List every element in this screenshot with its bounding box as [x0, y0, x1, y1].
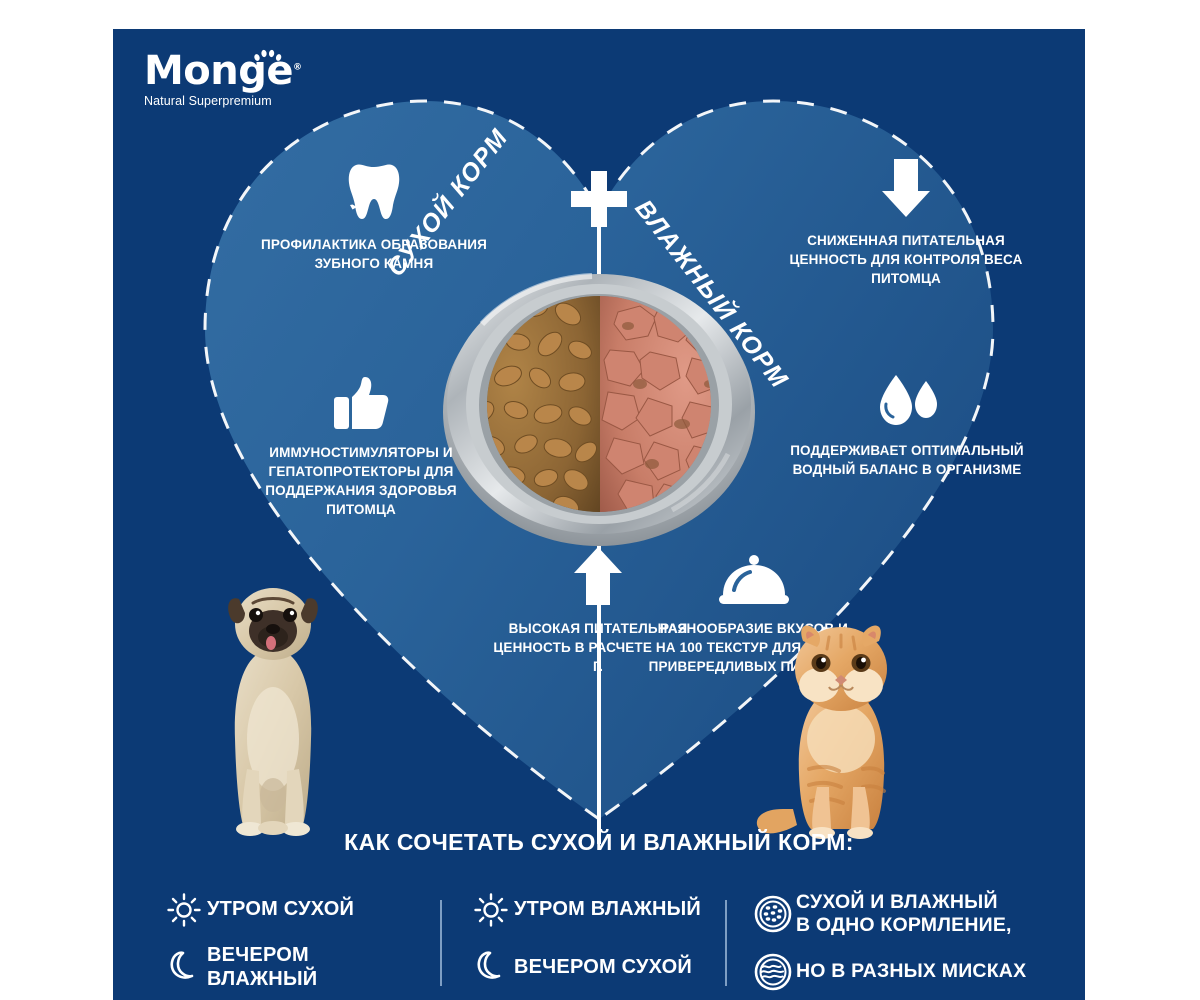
cloche-icon	[641, 543, 867, 607]
feature-text: СНИЖЕННАЯ ПИТАТЕЛЬНАЯ ЦЕННОСТЬ ДЛЯ КОНТР…	[785, 231, 1027, 288]
combo-text: УТРОМ ВЛАЖНЫЙ	[514, 898, 701, 922]
feeding-combinations: УТРОМ СУХОЙ ВЕЧЕРОМ ВЛАЖНЫЙ	[113, 886, 1085, 1000]
combo-text: ВЕЧЕРОМ ВЛАЖНЫЙ	[207, 944, 423, 991]
brand-tagline: Natural Superpremium	[144, 94, 364, 108]
tooth-icon	[259, 159, 489, 223]
combo-row: НО В РАЗНЫХ МИСКАХ	[750, 944, 1070, 1000]
moon-icon	[161, 951, 207, 985]
wet-bowl-icon	[750, 953, 796, 991]
feature-text: ПРОФИЛАКТИКА ОБРАЗОВАНИЯ ЗУБНОГО КАМНЯ	[259, 235, 489, 273]
bottom-section-title: КАК СОЧЕТАТЬ СУХОЙ И ВЛАЖНЫЙ КОРМ:	[113, 829, 1085, 856]
combo-row: ВЕЧЕРОМ ВЛАЖНЫЙ	[161, 944, 423, 992]
feature-text: ИММУНОСТИМУЛЯТОРЫ И ГЕПАТОПРОТЕКТОРЫ ДЛЯ…	[231, 443, 491, 520]
thumbs-up-icon	[231, 367, 491, 431]
feature-immune-support: ИММУНОСТИМУЛЯТОРЫ И ГЕПАТОПРОТЕКТОРЫ ДЛЯ…	[231, 367, 491, 520]
ginger-persian-cat-photo	[753, 619, 928, 844]
brand-logo: Monge® Natural Superpremium	[144, 51, 364, 108]
pug-dog-photo	[203, 579, 343, 844]
feature-tartar-prevention: ПРОФИЛАКТИКА ОБРАЗОВАНИЯ ЗУБНОГО КАМНЯ	[259, 159, 489, 273]
combo-separator	[440, 900, 442, 986]
combo-morning-dry-evening-wet: УТРОМ СУХОЙ ВЕЧЕРОМ ВЛАЖНЫЙ	[161, 886, 423, 1000]
feature-water-balance: ПОДДЕРЖИВАЕТ ОПТИМАЛЬНЫЙ ВОДНЫЙ БАЛАНС В…	[789, 365, 1025, 479]
combo-text: УТРОМ СУХОЙ	[207, 898, 354, 922]
combo-morning-wet-evening-dry: УТРОМ ВЛАЖНЫЙ ВЕЧЕРОМ СУХОЙ	[468, 886, 730, 1000]
plus-icon	[569, 169, 629, 229]
sun-icon	[468, 893, 514, 927]
sun-icon	[161, 893, 207, 927]
combo-text: НО В РАЗНЫХ МИСКАХ	[796, 960, 1026, 983]
paw-print-icon	[253, 48, 283, 64]
dry-bowl-icon	[750, 895, 796, 933]
water-drops-icon	[789, 365, 1025, 429]
combo-row: УТРОМ СУХОЙ	[161, 886, 423, 934]
combo-same-meal-separate-bowls: СУХОЙ И ВЛАЖНЫЙ В ОДНО КОРМЛЕНИЕ,	[750, 886, 1070, 1000]
combo-row: СУХОЙ И ВЛАЖНЫЙ В ОДНО КОРМЛЕНИЕ,	[750, 886, 1070, 942]
registered-mark: ®	[293, 63, 302, 73]
moon-icon	[468, 951, 514, 985]
feature-reduced-calories: СНИЖЕННАЯ ПИТАТЕЛЬНАЯ ЦЕННОСТЬ ДЛЯ КОНТР…	[785, 155, 1027, 288]
arrow-down-icon	[785, 155, 1027, 219]
combo-text: ВЕЧЕРОМ СУХОЙ	[514, 956, 692, 980]
combo-row: ВЕЧЕРОМ СУХОЙ	[468, 944, 730, 992]
infographic-canvas: Monge® Natural Superpremium СУХОЙ КОРМ В…	[0, 0, 1200, 1000]
combo-separator	[725, 900, 727, 986]
combo-row: УТРОМ ВЛАЖНЫЙ	[468, 886, 730, 934]
blue-panel: Monge® Natural Superpremium СУХОЙ КОРМ В…	[113, 29, 1085, 1000]
feature-text: ПОДДЕРЖИВАЕТ ОПТИМАЛЬНЫЙ ВОДНЫЙ БАЛАНС В…	[789, 441, 1025, 479]
combo-text: СУХОЙ И ВЛАЖНЫЙ В ОДНО КОРМЛЕНИЕ,	[796, 891, 1012, 938]
